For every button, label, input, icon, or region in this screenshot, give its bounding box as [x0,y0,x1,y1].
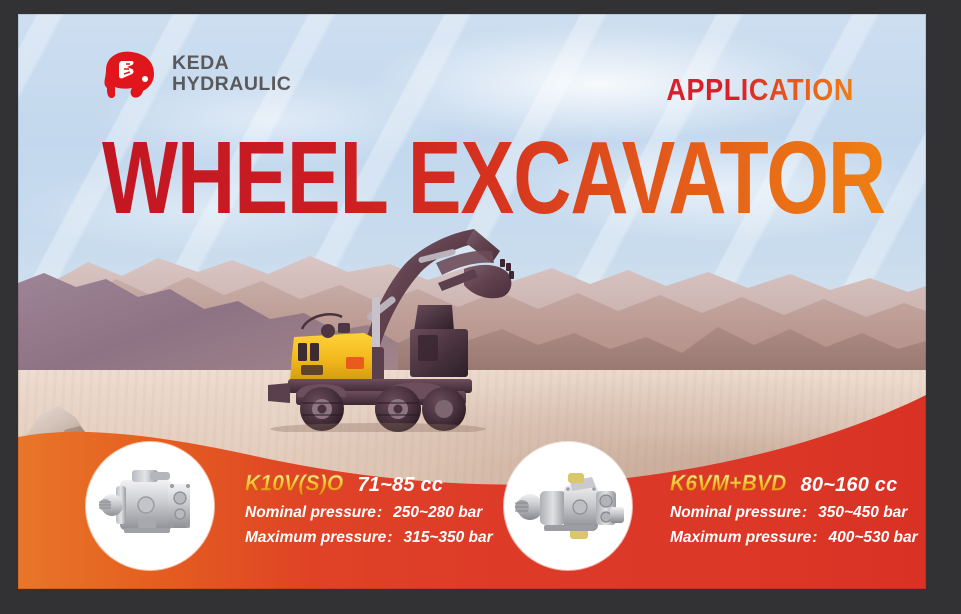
spec-value: 400~530 bar [828,529,917,546]
spec-value: 315~350 bar [403,529,492,546]
product-spec-block-1: K10V(S)O 71~85 cc Nominal pressure:250~2… [245,473,493,547]
spec-line-maximum-pressure: Maximum pressure:400~530 bar [670,529,918,547]
product-model-row: K10V(S)O 71~85 cc [245,473,493,497]
brand-logo[interactable]: KEDA HYDRAULIC [96,48,291,100]
product-photo-circle-1 [86,442,214,570]
brand-name-line2: HYDRAULIC [172,74,291,95]
spec-line-maximum-pressure: Maximum pressure:315~350 bar [245,529,493,547]
spec-label: Nominal pressure [245,504,376,521]
product-spec-block-2: K6VM+BVD 80~160 cc Nominal pressure:350~… [670,473,918,547]
product-model-name: K6VM+BVD [670,472,787,497]
product-displacement: 71~85 cc [357,474,443,497]
spec-value: 250~280 bar [393,504,482,521]
spec-label: Maximum pressure [245,529,386,546]
spec-line-nominal-pressure: Nominal pressure:250~280 bar [245,504,493,522]
spec-label: Maximum pressure [670,529,811,546]
product-model-row: K6VM+BVD 80~160 cc [670,473,918,497]
axial-piston-pump-photo-icon [94,464,206,549]
spec-separator: : [812,529,817,546]
product-model-name: K10V(S)O [245,472,343,497]
spec-line-nominal-pressure: Nominal pressure:350~450 bar [670,504,918,522]
keda-elephant-logo-icon [96,48,158,100]
spec-value: 350~450 bar [818,504,907,521]
spec-separator: : [802,504,807,521]
brand-name: KEDA HYDRAULIC [172,53,291,95]
spec-label: Nominal pressure [670,504,801,521]
promotional-banner: KEDA HYDRAULIC APPLICATION WHEEL EXCAVAT… [18,14,926,589]
bent-axis-motor-photo-icon [510,463,626,550]
brand-name-line1: KEDA [172,53,291,74]
product-displacement: 80~160 cc [801,474,898,497]
spec-separator: : [377,504,382,521]
product-photo-circle-2 [504,442,632,570]
page-title: WHEEL EXCAVATOR [102,126,885,229]
section-label: APPLICATION [666,73,854,108]
spec-separator: : [387,529,392,546]
